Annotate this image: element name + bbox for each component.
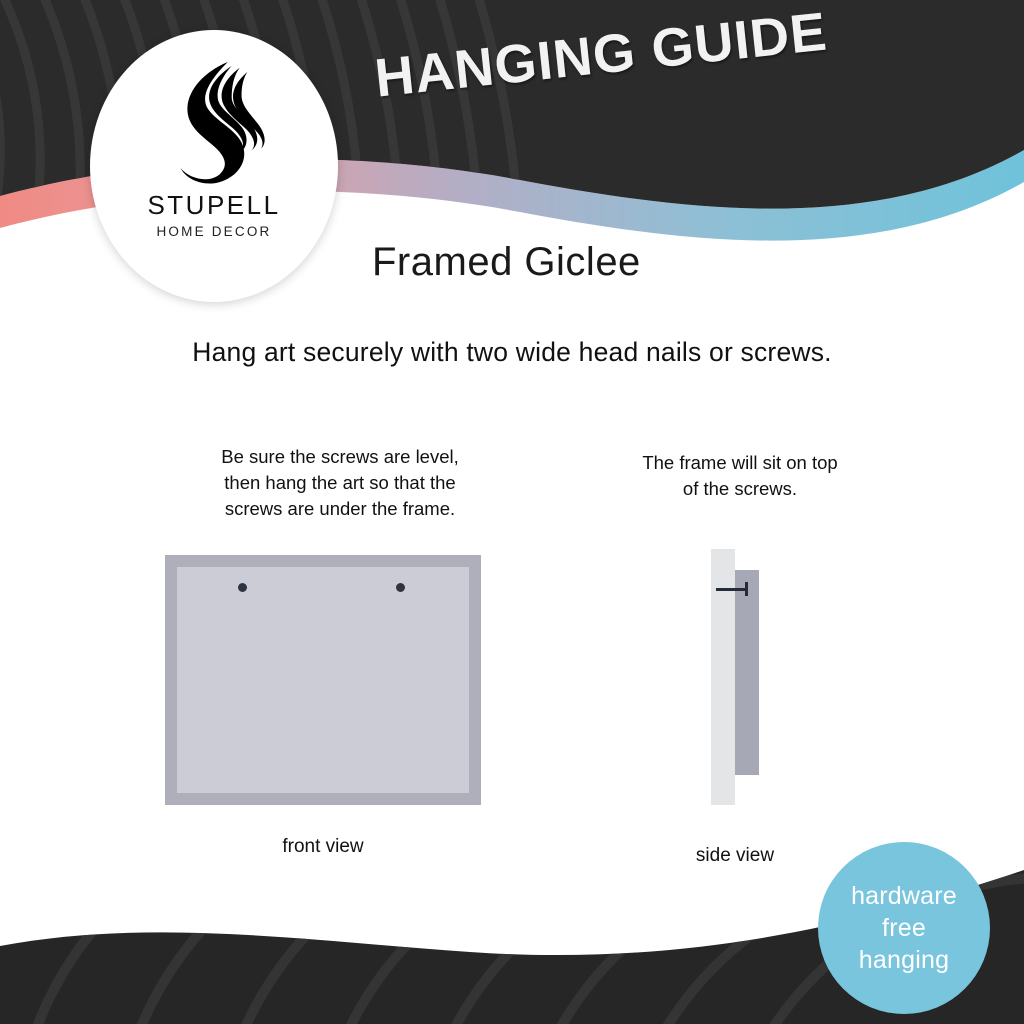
- page-title: HANGING GUIDE: [372, 0, 896, 110]
- screw-dot-left: [238, 583, 247, 592]
- stupell-swoosh-icon: [155, 56, 273, 184]
- badge-line-1: hardware: [851, 880, 957, 912]
- front-view-caption: Be sure the screws are level, then hang …: [140, 444, 540, 522]
- product-type-label: Framed Giclee: [372, 240, 641, 285]
- side-view-caption: The frame will sit on top of the screws.: [590, 450, 890, 502]
- side-view-nail-shaft: [716, 588, 748, 591]
- main-instruction-text: Hang art securely with two wide head nai…: [0, 337, 1024, 368]
- badge-line-3: hanging: [859, 944, 949, 976]
- brand-logo-badge: STUPELL HOME DECOR: [90, 30, 338, 302]
- side-view-label: side view: [640, 845, 830, 867]
- side-caption-line-1: The frame will sit on top: [590, 450, 890, 476]
- side-caption-line-2: of the screws.: [590, 476, 890, 502]
- screw-dot-right: [396, 583, 405, 592]
- side-view-frame: [735, 570, 759, 775]
- side-view-nail-head: [745, 582, 748, 596]
- hardware-free-hanging-badge: hardware free hanging: [818, 842, 990, 1014]
- front-view-art-panel: [177, 567, 469, 793]
- front-caption-line-2: then hang the art so that the: [140, 470, 540, 496]
- hanging-guide-page: STUPELL HOME DECOR HANGING GUIDE Framed …: [0, 0, 1024, 1024]
- logo-tagline: HOME DECOR: [156, 225, 271, 239]
- front-view-frame-diagram: [165, 555, 481, 805]
- front-caption-line-3: screws are under the frame.: [140, 496, 540, 522]
- badge-line-2: free: [882, 912, 926, 944]
- logo-brand-name: STUPELL: [147, 192, 280, 218]
- front-caption-line-1: Be sure the screws are level,: [140, 444, 540, 470]
- front-view-label: front view: [165, 836, 481, 858]
